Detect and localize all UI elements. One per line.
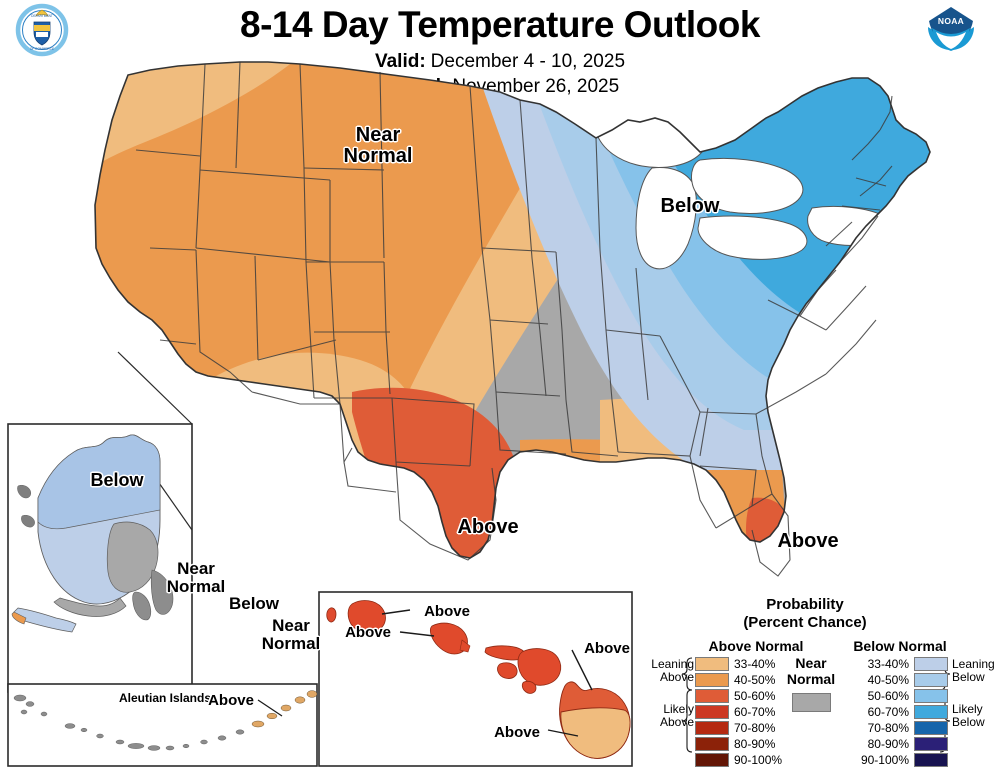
legend-swatch-above-60-70% [695, 705, 729, 719]
legend-label-below-70-80%: 70-80% [854, 721, 909, 735]
leaning-above-line-2: Above [660, 670, 694, 684]
legend-label-below-33-40%: 33-40% [854, 657, 909, 671]
label-line-2: Normal [344, 145, 413, 167]
legend-near-normal-swatch [792, 693, 831, 712]
legend-row-below-90-100%: 90-100% [854, 752, 948, 767]
legend-title: Probability (Percent Chance) [640, 596, 970, 631]
map-label-above-hawaii-north: Above [572, 641, 642, 657]
map-label-below-alaska: Below [72, 471, 162, 490]
legend-label-below-40-50%: 40-50% [854, 673, 909, 687]
legend-label-above-80-90%: 80-90% [734, 737, 775, 751]
legend-row-below-33-40%: 33-40% [854, 656, 948, 671]
leaning-below-line-2: Below [952, 670, 985, 684]
map-label-above-oahu: Above [333, 625, 403, 641]
legend-label-above-70-80%: 70-80% [734, 721, 775, 735]
label-line-2: Normal [167, 577, 226, 596]
label-line-1: Near [272, 616, 310, 635]
legend-row-below-50-60%: 50-60% [854, 688, 948, 703]
likely-below-line-1: Likely [952, 702, 983, 716]
legend-swatch-above-70-80% [695, 721, 729, 735]
legend-label-above-50-60%: 50-60% [734, 689, 775, 703]
legend-column-below-normal: 33-40%40-50%50-60%60-70%70-80%80-90%90-1… [854, 656, 948, 768]
leaning-below-line-1: Leaning [952, 657, 995, 671]
legend-swatch-below-90-100% [914, 753, 948, 767]
legend-swatch-above-40-50% [695, 673, 729, 687]
map-label-above-kauai: Above [412, 604, 482, 620]
legend-group-likely-below: Likely Below [952, 703, 1000, 730]
map-label-near-normal-panhandle: Near Normal [243, 617, 339, 653]
legend-row-above-70-80%: 70-80% [695, 720, 782, 735]
legend-label-above-33-40%: 33-40% [734, 657, 775, 671]
likely-above-line-1: Likely [663, 702, 694, 716]
legend-swatch-above-80-90% [695, 737, 729, 751]
legend-label-below-50-60%: 50-60% [854, 689, 909, 703]
map-label-below-great-lakes: Below [640, 196, 740, 217]
legend-swatch-above-90-100% [695, 753, 729, 767]
legend-column-above-normal: 33-40%40-50%50-60%60-70%70-80%80-90%90-1… [695, 656, 782, 768]
legend-swatch-above-50-60% [695, 689, 729, 703]
legend-title-line-1: Probability [766, 596, 844, 613]
legend-label-below-90-100%: 90-100% [854, 753, 909, 767]
likely-below-line-2: Below [952, 715, 985, 729]
legend-group-leaning-below: Leaning Below [952, 658, 1000, 685]
legend-swatch-below-33-40% [914, 657, 948, 671]
legend-heading-below-normal: Below Normal [840, 638, 960, 654]
map-label-above-texas: Above [438, 517, 538, 538]
label-line-1: Near [177, 559, 215, 578]
legend-row-below-40-50%: 40-50% [854, 672, 948, 687]
legend-swatch-below-50-60% [914, 689, 948, 703]
legend-swatch-below-80-90% [914, 737, 948, 751]
legend-swatch-below-40-50% [914, 673, 948, 687]
leaning-above-line-1: Leaning [651, 657, 694, 671]
map-label-above-aleutians: Above [200, 693, 262, 709]
legend-row-above-50-60%: 50-60% [695, 688, 782, 703]
near-normal-line-1: Near [795, 655, 826, 671]
label-line-1: Near [356, 124, 400, 146]
legend-row-below-60-70%: 60-70% [854, 704, 948, 719]
label-line-2: Normal [262, 634, 321, 653]
map-label-below-southeast-alaska: Below [212, 595, 296, 613]
legend-row-below-70-80%: 70-80% [854, 720, 948, 735]
map-label-near-normal-plains: Near Normal [333, 125, 423, 167]
legend-group-likely-above: Likely Above [638, 703, 694, 730]
legend-row-below-80-90%: 80-90% [854, 736, 948, 751]
legend-row-above-40-50%: 40-50% [695, 672, 782, 687]
map-label-near-normal-alaska: Near Normal [148, 560, 244, 596]
legend-near-normal-label: Near Normal [782, 656, 840, 687]
legend-row-above-90-100%: 90-100% [695, 752, 782, 767]
likely-above-line-2: Above [660, 715, 694, 729]
legend-label-above-90-100%: 90-100% [734, 753, 782, 767]
outlook-map-page: DEPARTMENT OF COMMERCE NOAA 8-14 Day Tem… [0, 0, 1000, 773]
legend-group-leaning-above: Leaning Above [638, 658, 694, 685]
legend-swatch-below-70-80% [914, 721, 948, 735]
legend-near-normal-block: Near Normal [782, 656, 840, 712]
legend-label-above-60-70%: 60-70% [734, 705, 775, 719]
map-label-above-hawaii-south: Above [482, 725, 552, 741]
legend-label-below-80-90%: 80-90% [854, 737, 909, 751]
near-normal-line-2: Normal [787, 671, 835, 687]
map-label-above-florida: Above [758, 531, 858, 552]
legend-row-above-80-90%: 80-90% [695, 736, 782, 751]
probability-legend: Probability (Percent Chance) Above Norma… [640, 596, 1000, 773]
legend-swatch-below-60-70% [914, 705, 948, 719]
legend-label-above-40-50%: 40-50% [734, 673, 775, 687]
legend-label-below-60-70%: 60-70% [854, 705, 909, 719]
legend-row-above-60-70%: 60-70% [695, 704, 782, 719]
alaska-inset [8, 352, 192, 692]
legend-title-line-2: (Percent Chance) [743, 614, 866, 631]
legend-swatch-above-33-40% [695, 657, 729, 671]
legend-heading-above-normal: Above Normal [696, 638, 816, 654]
legend-row-above-33-40%: 33-40% [695, 656, 782, 671]
